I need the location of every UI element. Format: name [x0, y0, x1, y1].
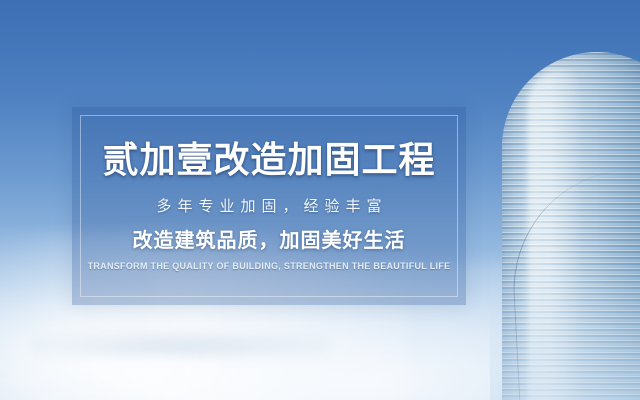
banner-subline: 多年专业加固，经验丰富: [150, 199, 387, 214]
cloud-wisp: [30, 333, 330, 359]
tower-atmospheric-haze: [490, 250, 640, 400]
banner-tagline: 改造建筑品质，加固美好生活: [133, 231, 406, 251]
skyscraper-image: [490, 0, 640, 400]
banner-tagline-english: TRANSFORM THE QUALITY OF BUILDING, STREN…: [88, 262, 451, 271]
banner-headline: 贰加壹改造加固工程: [102, 142, 435, 178]
hero-banner: 贰加壹改造加固工程 多年专业加固，经验丰富 改造建筑品质，加固美好生活 TRAN…: [0, 0, 640, 400]
banner-copy: 贰加壹改造加固工程 多年专业加固，经验丰富 改造建筑品质，加固美好生活 TRAN…: [72, 107, 466, 305]
